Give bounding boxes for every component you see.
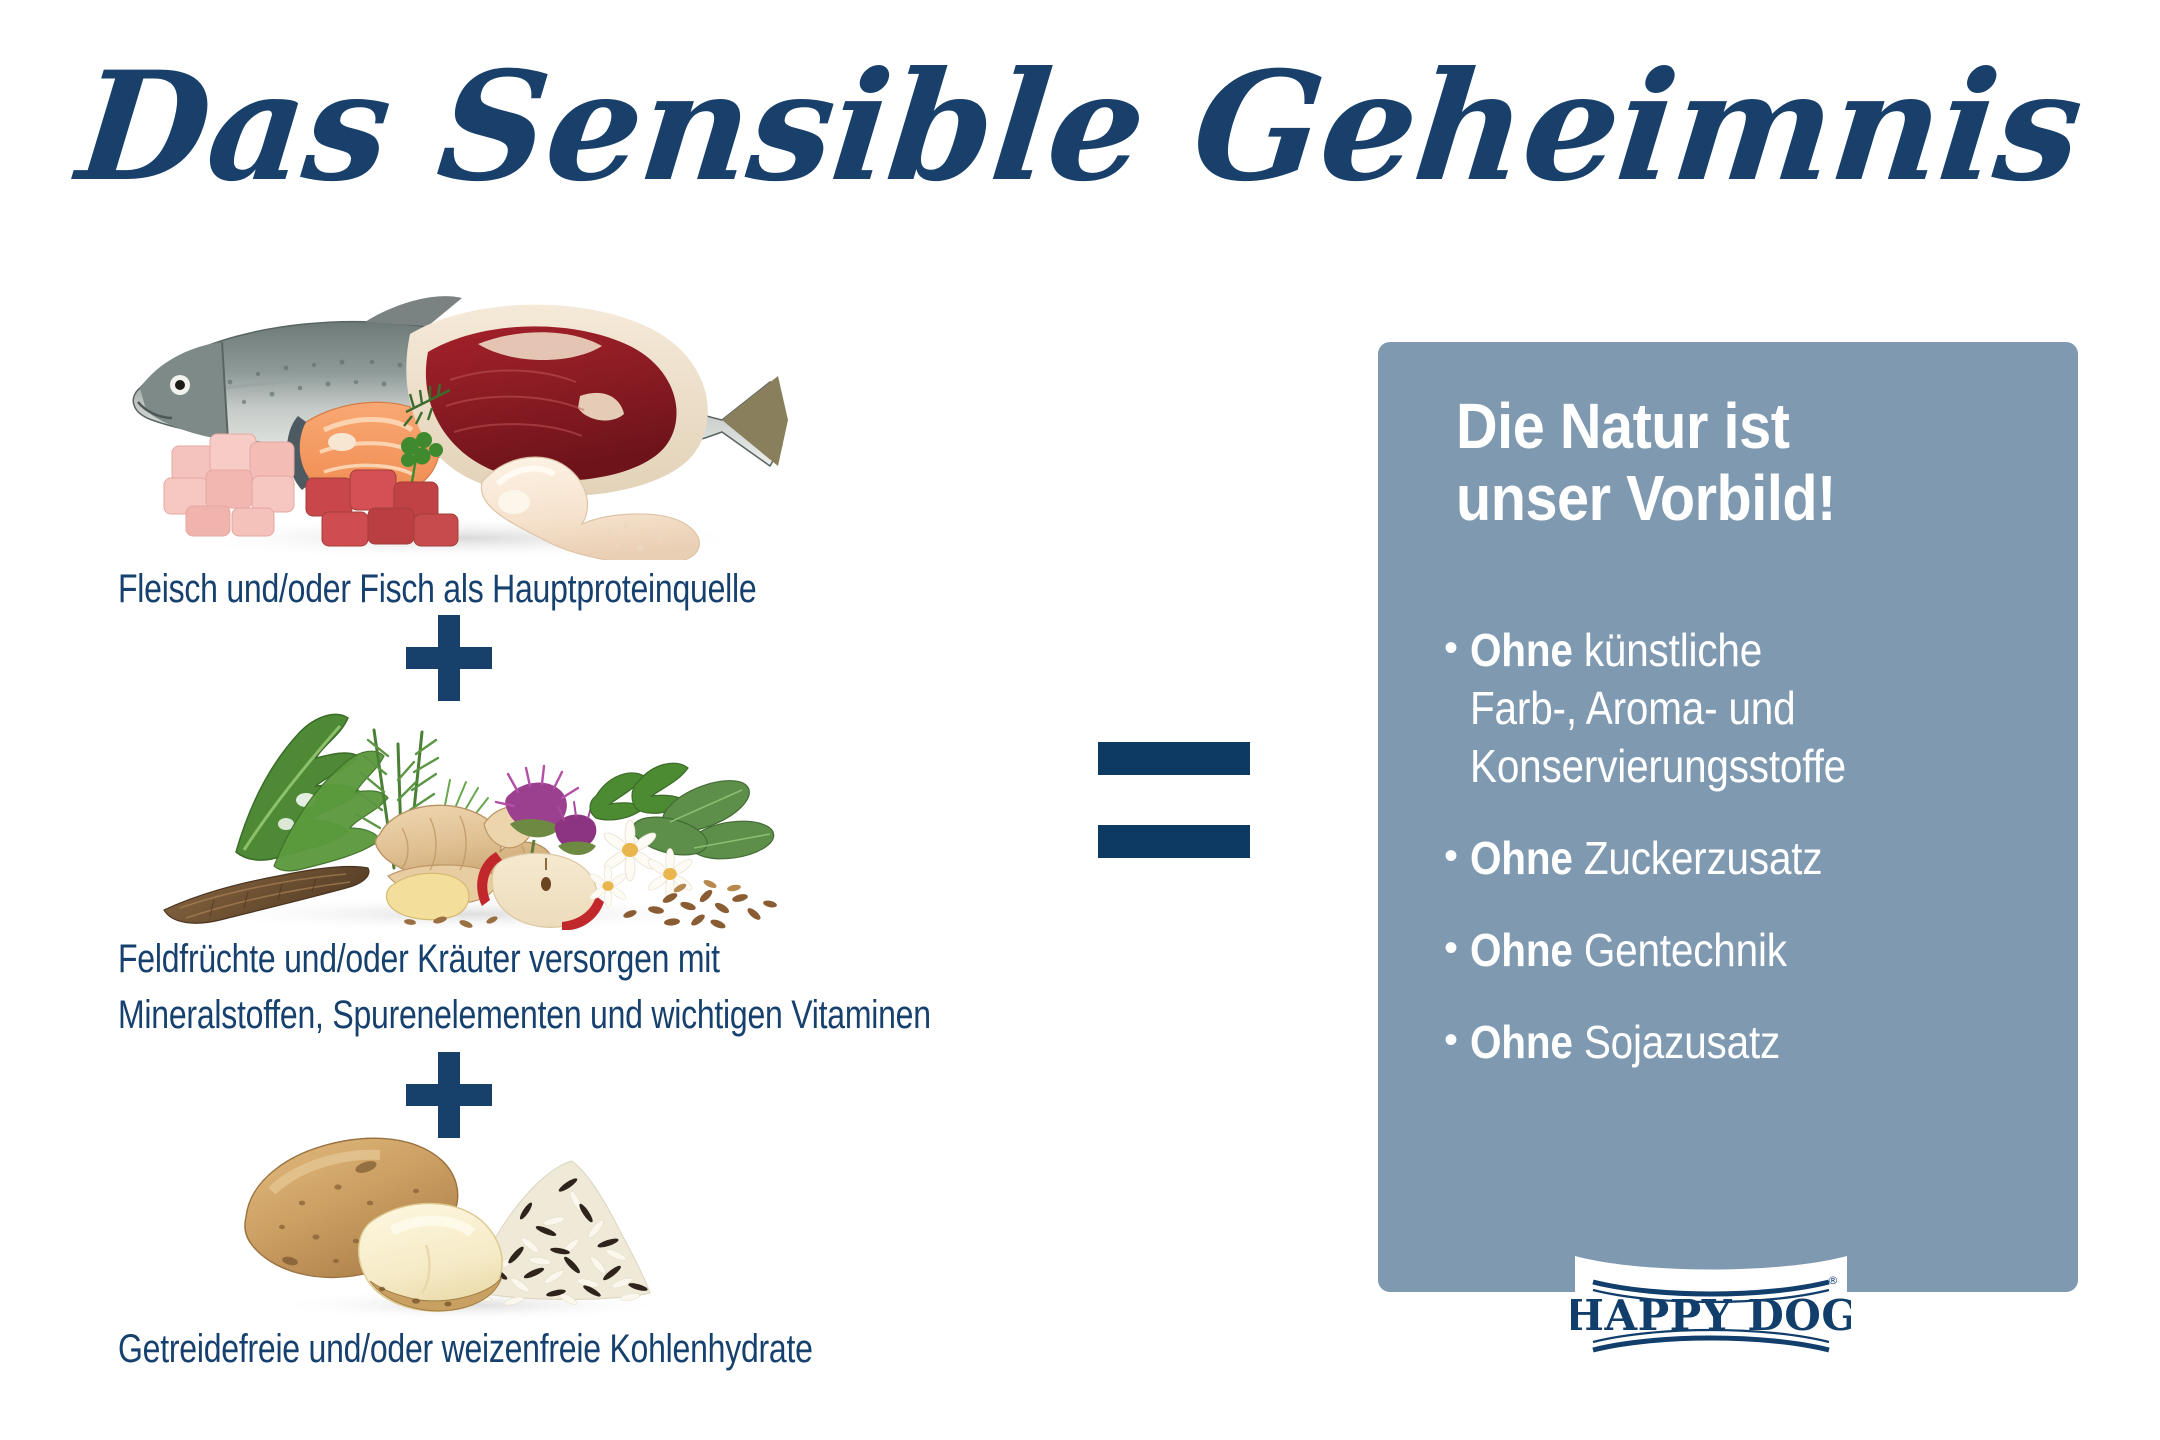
claim-text: Ohne künstliche Farb-, Aroma- und Konser…	[1470, 622, 1993, 796]
claim-bold: Ohne	[1470, 832, 1573, 884]
happy-dog-logo: HAPPY DOG ®	[1571, 1252, 1851, 1380]
claim-rest-1: künstliche	[1573, 624, 1762, 676]
claim-text: Ohne Sojazusatz	[1470, 1014, 1993, 1072]
bullet-dot-icon: •	[1444, 622, 1470, 796]
claim-rest-1: Gentechnik	[1573, 924, 1787, 976]
claims-list: • Ohne künstliche Farb-, Aroma- und Kons…	[1444, 622, 2064, 1106]
bullet-dot-icon: •	[1444, 830, 1470, 888]
equals-bar-top	[1098, 742, 1250, 775]
panel-heading-line-1: Die Natur ist	[1456, 390, 1996, 462]
registered-trademark-icon: ®	[1828, 1274, 1839, 1287]
meat-and-fish-photo	[110, 270, 810, 560]
claim-text: Ohne Zuckerzusatz	[1470, 830, 1993, 888]
list-item: • Ohne Gentechnik	[1444, 922, 2064, 980]
claim-rest-1: Sojazusatz	[1573, 1016, 1780, 1068]
caption-carbohydrates: Getreidefreie und/oder weizenfreie Kohle…	[118, 1322, 813, 1377]
equals-icon	[1098, 742, 1250, 858]
potato-and-rice-photo	[220, 1095, 720, 1325]
caption-herbs-line-1: Feldfrüchte und/oder Kräuter versorgen m…	[118, 932, 720, 987]
equals-bar-bottom	[1098, 825, 1250, 858]
claim-bold: Ohne	[1470, 1016, 1573, 1068]
claim-text: Ohne Gentechnik	[1470, 922, 1993, 980]
caption-meat-fish: Fleisch und/oder Fisch als Hauptproteinq…	[118, 562, 756, 617]
claim-bold: Ohne	[1470, 624, 1573, 676]
list-item: • Ohne künstliche Farb-, Aroma- und Kons…	[1444, 622, 2064, 796]
nature-claims-panel: Die Natur ist unser Vorbild! • Ohne küns…	[1378, 342, 2078, 1292]
herbs-and-field-crops-photo	[110, 670, 810, 930]
panel-heading: Die Natur ist unser Vorbild!	[1456, 390, 1996, 535]
panel-heading-line-2: unser Vorbild!	[1456, 462, 1996, 534]
bullet-dot-icon: •	[1444, 1014, 1470, 1072]
bullet-dot-icon: •	[1444, 922, 1470, 980]
claim-bold: Ohne	[1470, 924, 1573, 976]
logo-wordmark: HAPPY DOG	[1571, 1291, 1851, 1340]
caption-herbs-line-2: Mineralstoffen, Spurenelementen und wich…	[118, 988, 931, 1043]
list-item: • Ohne Sojazusatz	[1444, 1014, 2064, 1072]
page-title: Das Sensible Geheimnis	[0, 52, 2160, 202]
claim-rest-1: Zuckerzusatz	[1573, 832, 1823, 884]
claim-rest-3: Konservierungsstoffe	[1470, 740, 1846, 792]
claim-rest-2: Farb-, Aroma- und	[1470, 682, 1795, 734]
list-item: • Ohne Zuckerzusatz	[1444, 830, 2064, 888]
